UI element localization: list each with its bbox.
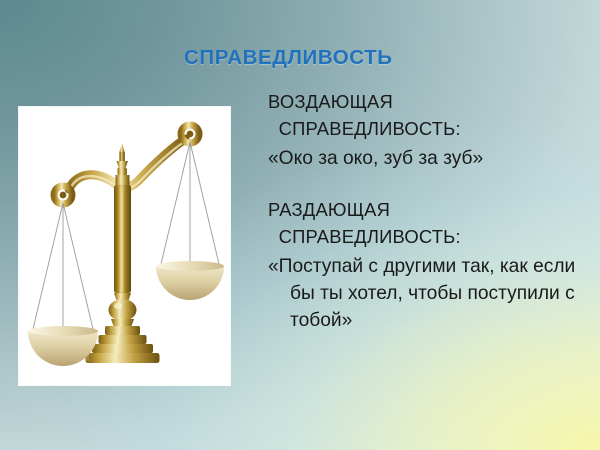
body-text: ВОЗДАЮЩАЯ СПРАВЕДЛИВОСТЬ: «Око за око, з… <box>268 88 598 334</box>
block-2-quote: «Поступай с другими так, как если бы ты … <box>268 253 598 334</box>
block-1-heading-line-1: ВОЗДАЮЩАЯ <box>268 88 598 115</box>
block-1-heading-line-2: СПРАВЕДЛИВОСТЬ: <box>268 115 598 142</box>
image-frame <box>19 107 230 385</box>
block-2-heading-line-2: СПРАВЕДЛИВОСТЬ: <box>268 223 598 250</box>
page-title: СПРАВЕДЛИВОСТЬ <box>184 46 484 70</box>
block-1-quote: «Око за око, зуб за зуб» <box>268 145 598 172</box>
slide-canvas: СПРАВЕДЛИВОСТЬ <box>0 0 600 450</box>
block-spacer <box>268 172 598 196</box>
block-2-heading-line-1: РАЗДАЮЩАЯ <box>268 196 598 223</box>
balance-scales-image <box>19 107 230 385</box>
